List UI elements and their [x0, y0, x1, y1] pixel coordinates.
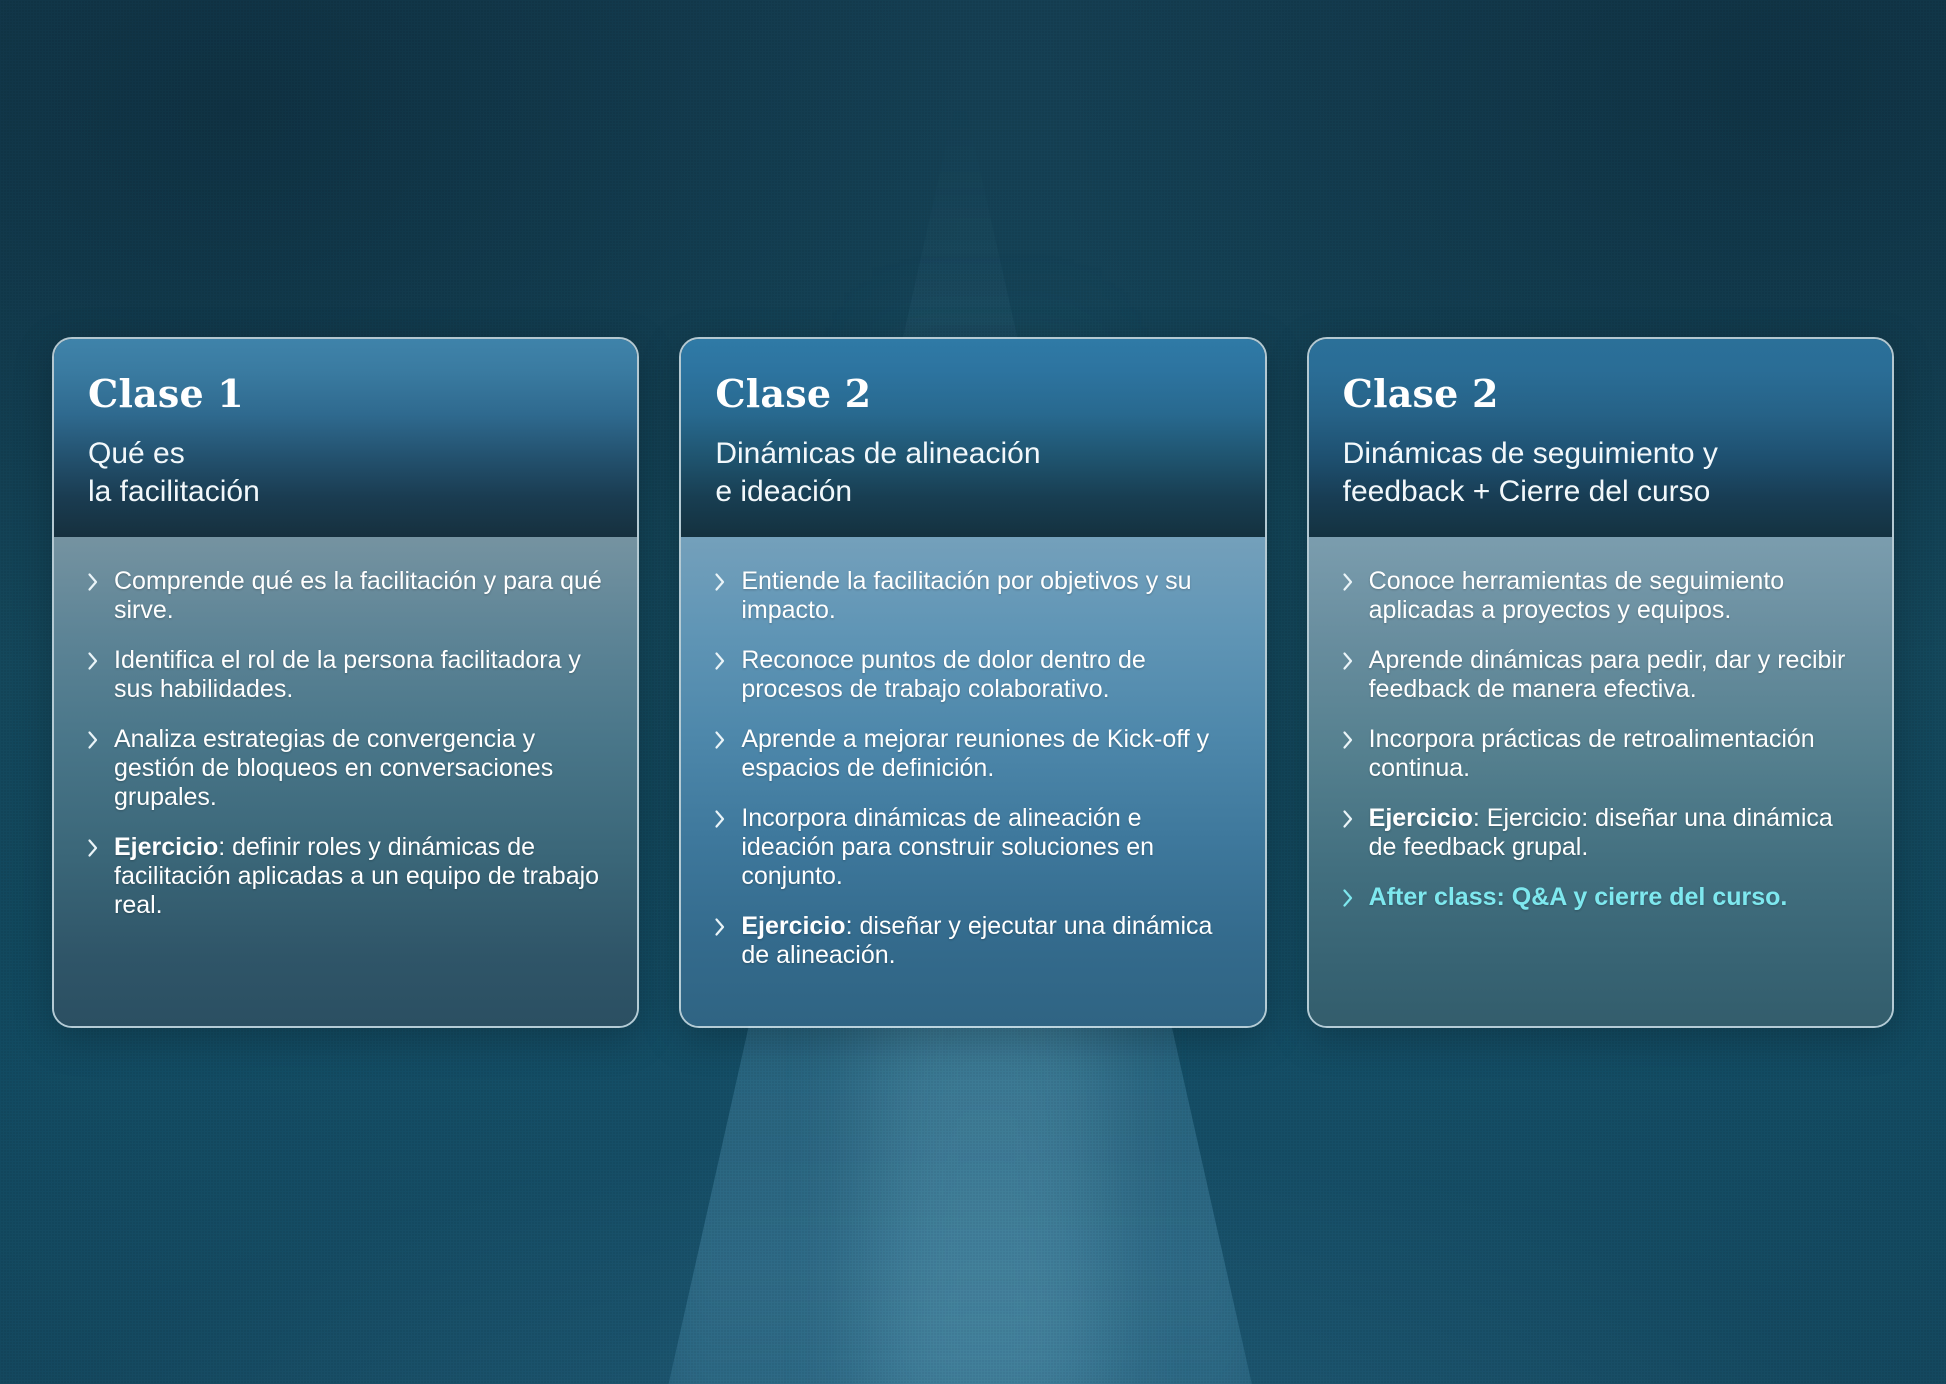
list-item: Conoce herramientas de seguimiento aplic…: [1341, 567, 1860, 625]
list-item-text: Entiende la facilitación por objetivos y…: [741, 567, 1232, 625]
chevron-right-icon: [713, 729, 727, 755]
list-item-text: Conoce herramientas de seguimiento aplic…: [1369, 567, 1860, 625]
class-cards-container: Clase 1Qué es la facilitaciónComprende q…: [52, 337, 1894, 1028]
card-body: Conoce herramientas de seguimiento aplic…: [1309, 537, 1892, 1026]
list-item: Analiza estrategias de convergencia y ge…: [86, 725, 605, 812]
list-item: Incorpora prácticas de retroalimentación…: [1341, 725, 1860, 783]
chevron-right-icon: [86, 650, 100, 676]
class-card[interactable]: Clase 2Dinámicas de seguimiento y feedba…: [1307, 337, 1894, 1028]
learning-outcomes-list: Entiende la facilitación por objetivos y…: [713, 567, 1232, 970]
card-header: Clase 2Dinámicas de alineación e ideació…: [681, 339, 1264, 537]
class-card[interactable]: Clase 1Qué es la facilitaciónComprende q…: [52, 337, 639, 1028]
list-item-text: Analiza estrategias de convergencia y ge…: [114, 725, 605, 812]
card-subtitle: Qué es la facilitación: [88, 435, 603, 511]
chevron-right-icon: [713, 650, 727, 676]
chevron-right-icon: [86, 837, 100, 863]
list-item-lead: Ejercicio: [741, 912, 845, 940]
card-header: Clase 2Dinámicas de seguimiento y feedba…: [1309, 339, 1892, 537]
list-item-lead: Ejercicio: [114, 833, 218, 861]
list-item: Identifica el rol de la persona facilita…: [86, 646, 605, 704]
list-item: Ejercicio: Ejercicio: diseñar una dinámi…: [1341, 804, 1860, 862]
chevron-right-icon: [1341, 729, 1355, 755]
list-item: Reconoce puntos de dolor dentro de proce…: [713, 646, 1232, 704]
class-number-label: Clase 1: [88, 375, 603, 413]
list-item: Entiende la facilitación por objetivos y…: [713, 567, 1232, 625]
chevron-right-icon: [86, 729, 100, 755]
learning-outcomes-list: Comprende qué es la facilitación y para …: [86, 567, 605, 920]
list-item-text: Aprende dinámicas para pedir, dar y reci…: [1369, 646, 1860, 704]
list-item-text: Aprende a mejorar reuniones de Kick-off …: [741, 725, 1232, 783]
list-item-text: Incorpora prácticas de retroalimentación…: [1369, 725, 1860, 783]
list-item-text: Comprende qué es la facilitación y para …: [114, 567, 605, 625]
class-number-label: Clase 2: [1343, 375, 1858, 413]
list-item: Ejercicio: diseñar y ejecutar una dinámi…: [713, 912, 1232, 970]
list-item-text: Identifica el rol de la persona facilita…: [114, 646, 605, 704]
list-item-text: Ejercicio: diseñar y ejecutar una dinámi…: [741, 912, 1232, 970]
card-subtitle: Dinámicas de seguimiento y feedback + Ci…: [1343, 435, 1858, 511]
chevron-right-icon: [1341, 571, 1355, 597]
list-item-text: Reconoce puntos de dolor dentro de proce…: [741, 646, 1232, 704]
list-item: Ejercicio: definir roles y dinámicas de …: [86, 833, 605, 920]
list-item-lead: Ejercicio: [1369, 804, 1473, 832]
card-header: Clase 1Qué es la facilitación: [54, 339, 637, 537]
list-item: Incorpora dinámicas de alineación e idea…: [713, 804, 1232, 891]
chevron-right-icon: [86, 571, 100, 597]
class-card[interactable]: Clase 2Dinámicas de alineación e ideació…: [679, 337, 1266, 1028]
class-number-label: Clase 2: [715, 375, 1230, 413]
list-item: Comprende qué es la facilitación y para …: [86, 567, 605, 625]
list-item-text: Incorpora dinámicas de alineación e idea…: [741, 804, 1232, 891]
chevron-right-icon: [1341, 887, 1355, 913]
list-item-text: Ejercicio: definir roles y dinámicas de …: [114, 833, 605, 920]
list-item: Aprende a mejorar reuniones de Kick-off …: [713, 725, 1232, 783]
chevron-right-icon: [713, 808, 727, 834]
card-body: Entiende la facilitación por objetivos y…: [681, 537, 1264, 1026]
list-item-after-class: After class: Q&A y cierre del curso.: [1341, 883, 1860, 913]
chevron-right-icon: [713, 571, 727, 597]
chevron-right-icon: [713, 916, 727, 942]
chevron-right-icon: [1341, 808, 1355, 834]
learning-outcomes-list: Conoce herramientas de seguimiento aplic…: [1341, 567, 1860, 913]
chevron-right-icon: [1341, 650, 1355, 676]
card-body: Comprende qué es la facilitación y para …: [54, 537, 637, 1026]
list-item: Aprende dinámicas para pedir, dar y reci…: [1341, 646, 1860, 704]
list-item-text: Ejercicio: Ejercicio: diseñar una dinámi…: [1369, 804, 1860, 862]
card-subtitle: Dinámicas de alineación e ideación: [715, 435, 1230, 511]
list-item-text: After class: Q&A y cierre del curso.: [1369, 883, 1860, 912]
